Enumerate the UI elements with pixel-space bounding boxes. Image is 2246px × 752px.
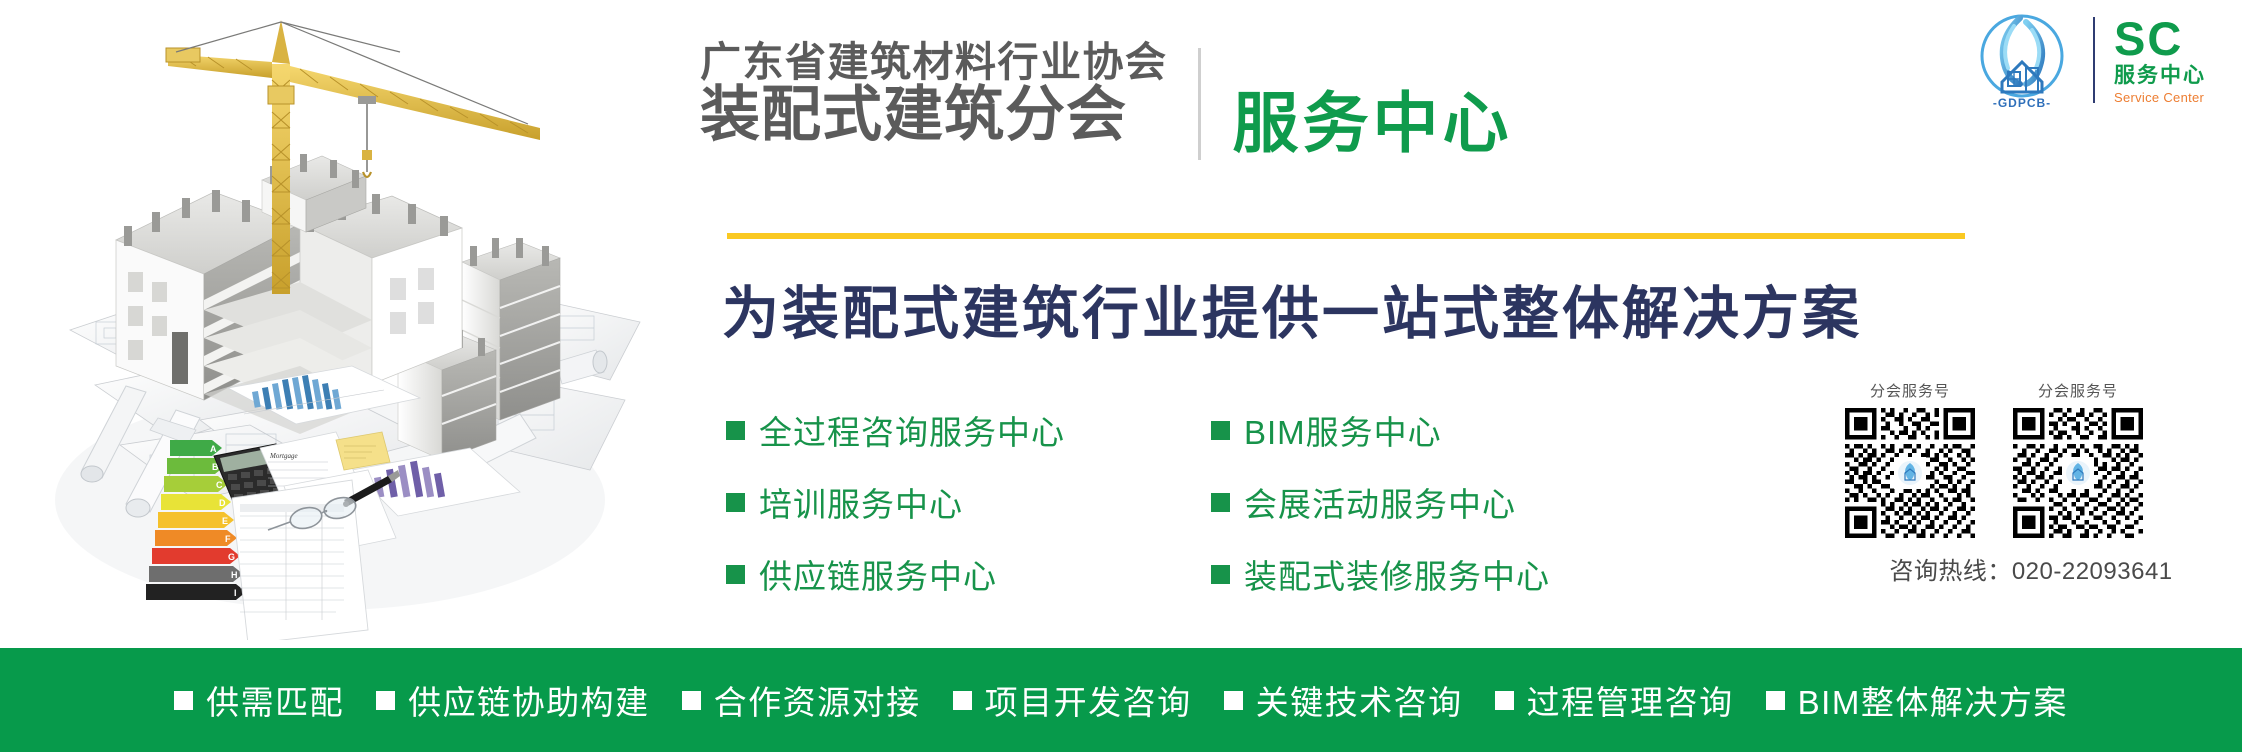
square-bullet-icon [953, 691, 972, 710]
tag-label: 过程管理咨询 [1527, 676, 1734, 724]
list-item[interactable]: 会展活动服务中心 [1211, 478, 1550, 526]
svg-text:C: C [216, 480, 223, 490]
qr-code-cell-1: 分会服务号 [1845, 380, 1975, 538]
svg-text:Mortgage: Mortgage [269, 452, 298, 460]
svg-text:F: F [225, 534, 231, 544]
svg-text:H: H [231, 570, 238, 580]
tag-label: 供需匹配 [206, 676, 344, 724]
tag-list: 供需匹配 供应链协助构建 合作资源对接 项目开发咨询 关键技术咨询 过程管理咨询 [174, 676, 2068, 724]
association-name-line1: 广东省建筑材料行业协会 [700, 42, 1168, 82]
qr-code-image-1[interactable] [1845, 408, 1975, 538]
qr-center-logo-icon [1894, 457, 1926, 489]
svg-text:A: A [210, 444, 217, 454]
square-bullet-icon [1211, 565, 1230, 584]
logo-english-text: Service Center [2114, 90, 2204, 105]
tag-item[interactable]: 关键技术咨询 [1224, 676, 1463, 724]
title-divider [1198, 48, 1201, 160]
hotline-text: 咨询热线：020-22093641 [1845, 551, 2217, 586]
tag-item[interactable]: BIM整体解决方案 [1766, 676, 2068, 724]
list-item[interactable]: 培训服务中心 [726, 478, 1065, 526]
gold-divider-rule [727, 233, 1965, 239]
square-bullet-icon [1766, 691, 1785, 710]
association-title-block: 广东省建筑材料行业协会 装配式建筑分会 服务中心 [700, 42, 1513, 166]
service-center-heading: 服务中心 [1233, 70, 1513, 166]
svg-text:I: I [234, 588, 237, 598]
service-column-right: BIM服务中心 会展活动服务中心 装配式装修服务中心 [1211, 406, 1550, 598]
tag-label: 合作资源对接 [714, 676, 921, 724]
qr-center-logo-icon [2062, 457, 2094, 489]
qr-caption: 分会服务号 [2038, 380, 2118, 401]
tag-label: 项目开发咨询 [985, 676, 1192, 724]
square-bullet-icon [1211, 421, 1230, 440]
construction-site-illustration: ABC DEF GHI [0, 0, 660, 640]
square-bullet-icon [1224, 691, 1243, 710]
service-center-list: 全过程咨询服务中心 培训服务中心 供应链服务中心 BIM服务中心 会展活动服务中… [726, 406, 1550, 598]
service-label: 供应链服务中心 [759, 550, 997, 598]
qr-code-cell-2: 分会服务号 [2013, 380, 2143, 538]
association-names: 广东省建筑材料行业协会 装配式建筑分会 [700, 42, 1168, 145]
promotional-banner: ABC DEF GHI [0, 0, 2246, 752]
list-item[interactable]: BIM服务中心 [1211, 406, 1550, 454]
qr-caption: 分会服务号 [1870, 380, 1950, 401]
gdpcb-text: -GDPCB- [1970, 96, 2074, 110]
tag-item[interactable]: 项目开发咨询 [953, 676, 1192, 724]
brand-logo: -GDPCB- SC 服务中心 Service Center [1970, 12, 2206, 108]
square-bullet-icon [726, 493, 745, 512]
svg-text:D: D [219, 498, 226, 508]
association-name-line2: 装配式建筑分会 [700, 86, 1168, 145]
square-bullet-icon [1211, 493, 1230, 512]
tag-label: BIM整体解决方案 [1798, 676, 2068, 724]
tag-item[interactable]: 合作资源对接 [682, 676, 921, 724]
gdpcb-emblem-icon: -GDPCB- [1970, 12, 2074, 108]
page-title: 为装配式建筑行业提供一站式整体解决方案 [722, 268, 1862, 350]
logo-divider [2093, 17, 2095, 103]
square-bullet-icon [376, 691, 395, 710]
svg-text:G: G [228, 552, 235, 562]
square-bullet-icon [1495, 691, 1514, 710]
square-bullet-icon [174, 691, 193, 710]
service-label: 全过程咨询服务中心 [759, 406, 1065, 454]
logo-wordmark: SC 服务中心 Service Center [2114, 15, 2206, 104]
qr-code-image-2[interactable] [2013, 408, 2143, 538]
service-column-left: 全过程咨询服务中心 培训服务中心 供应链服务中心 [726, 406, 1065, 598]
list-item[interactable]: 全过程咨询服务中心 [726, 406, 1065, 454]
list-item[interactable]: 供应链服务中心 [726, 550, 1065, 598]
svg-text:E: E [222, 516, 228, 526]
logo-chinese-text: 服务中心 [2114, 64, 2206, 87]
tag-label: 供应链协助构建 [408, 676, 650, 724]
service-label: BIM服务中心 [1244, 406, 1442, 454]
bottom-tag-bar: 供需匹配 供应链协助构建 合作资源对接 项目开发咨询 关键技术咨询 过程管理咨询 [0, 648, 2242, 752]
qr-code-block: 分会服务号 [1845, 380, 2217, 586]
tag-item[interactable]: 过程管理咨询 [1495, 676, 1734, 724]
square-bullet-icon [726, 565, 745, 584]
service-label: 装配式装修服务中心 [1244, 550, 1550, 598]
tag-label: 关键技术咨询 [1256, 676, 1463, 724]
square-bullet-icon [682, 691, 701, 710]
square-bullet-icon [726, 421, 745, 440]
service-label: 会展活动服务中心 [1244, 478, 1516, 526]
list-item[interactable]: 装配式装修服务中心 [1211, 550, 1550, 598]
tag-item[interactable]: 供需匹配 [174, 676, 344, 724]
tag-item[interactable]: 供应链协助构建 [376, 676, 650, 724]
qr-code-row: 分会服务号 [1845, 380, 2217, 538]
logo-sc-text: SC [2114, 15, 2183, 62]
service-label: 培训服务中心 [759, 478, 963, 526]
